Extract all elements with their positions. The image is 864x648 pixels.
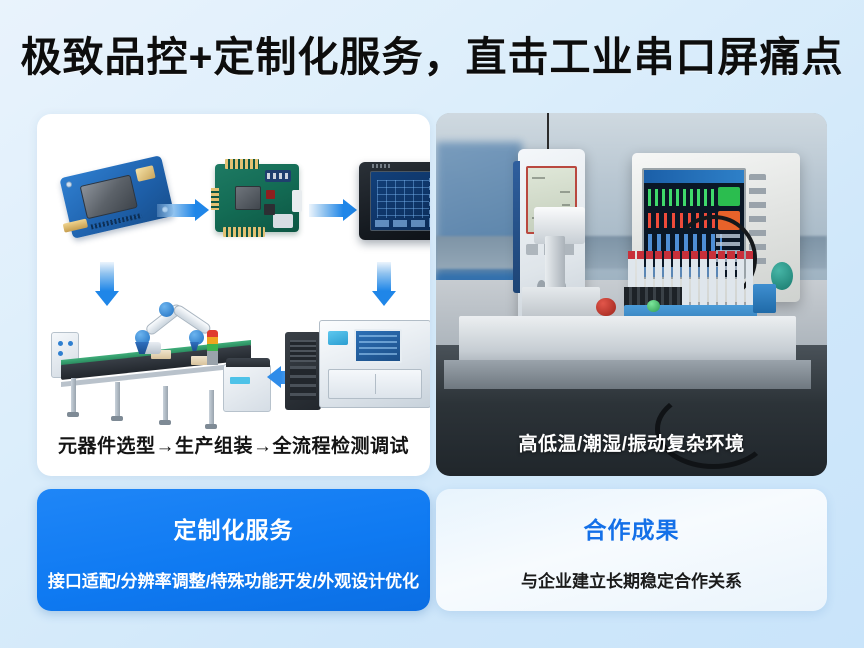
- capacitor: [266, 190, 275, 199]
- hmi-screen: [370, 171, 430, 231]
- stage-pcb-production: [215, 164, 299, 232]
- fixture-base-plate: [444, 360, 812, 389]
- brand-mark: [372, 164, 392, 168]
- gold-chip: [135, 165, 155, 182]
- process-illustration-card: 元器件选型→生产组装→全流程检测调试: [37, 114, 430, 476]
- custom-service-subtitle: 接口适配/分辨率调整/特殊功能开发/外观设计优化: [48, 567, 419, 592]
- mcu-chip: [235, 186, 261, 210]
- primary-display: [354, 329, 402, 363]
- custom-service-title: 定制化服务: [174, 511, 294, 545]
- custom-service-card[interactable]: 定制化服务 接口适配/分辨率调整/特殊功能开发/外观设计优化: [37, 489, 430, 611]
- process-caption: 元器件选型→生产组装→全流程检测调试: [37, 431, 430, 458]
- pin-header-top: [225, 159, 259, 169]
- fixture-post: [545, 236, 565, 294]
- screen-button-bar: [375, 220, 430, 227]
- test-machine-body: [319, 320, 430, 408]
- page-title: 极致品控+定制化服务，直击工业串口屏痛点: [21, 34, 844, 81]
- waveform-green: [648, 189, 718, 206]
- stage-test-equipment: [285, 310, 430, 416]
- module-board-icon: [59, 155, 174, 239]
- arrow-down-icon: [372, 262, 396, 306]
- mount-hole: [65, 181, 72, 188]
- ffc-connector: [63, 219, 88, 233]
- arrow-right-icon: [157, 199, 209, 221]
- emergency-button: [596, 298, 616, 316]
- usb-port: [273, 214, 293, 228]
- screen-side-panel: [429, 178, 430, 220]
- connector-block: [265, 170, 291, 182]
- environment-photo-card: 高低温/潮湿/振动复杂环境: [436, 113, 827, 476]
- pin-header-left: [211, 188, 219, 210]
- stage-hmi-product: [309, 162, 430, 240]
- cabinet-doors: [328, 369, 422, 399]
- signal-tower-light: [207, 330, 218, 366]
- page-title-bar: 极致品控+定制化服务，直击工业串口屏痛点: [0, 34, 864, 81]
- screen-grid: [377, 180, 429, 218]
- cooperation-result-card[interactable]: 合作成果 与企业建立长期稳定合作关系: [436, 489, 827, 611]
- line-output-cabinet: [223, 364, 271, 412]
- stage-assembly-line: [47, 298, 275, 416]
- stage-component-selection: [65, 166, 169, 228]
- pin-header-bottom: [223, 227, 265, 237]
- side-pad: [292, 190, 302, 212]
- cooperation-result-title: 合作成果: [584, 511, 680, 545]
- tower-pc: [285, 332, 321, 410]
- hmi-panel-icon: [359, 162, 430, 240]
- cable-plug: [753, 284, 776, 313]
- cooperation-result-subtitle: 与企业建立长期稳定合作关系: [521, 567, 742, 592]
- shield-can: [80, 174, 138, 219]
- reading-green: [718, 187, 740, 206]
- ic-small: [264, 204, 275, 215]
- lab-photo-scene: [436, 113, 827, 476]
- test-cabinet-icon: [285, 310, 430, 416]
- robot-joint: [159, 302, 174, 317]
- secondary-display: [328, 331, 348, 345]
- green-pcb-icon: [215, 164, 299, 232]
- assembly-line-icon: [47, 298, 275, 416]
- photo-caption: 高低温/潮湿/振动复杂环境: [436, 429, 827, 456]
